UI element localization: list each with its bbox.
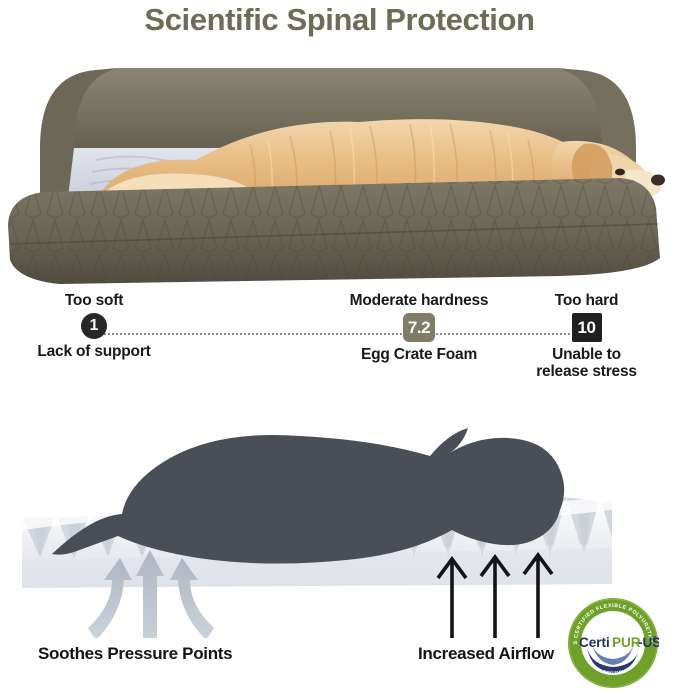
scale-stop-bottom-label: Lack of support — [10, 343, 178, 360]
scale-stop-bottom-label: Egg Crate Foam — [330, 346, 508, 363]
scale-badge-1: 1 — [81, 313, 107, 339]
product-hero-image — [0, 48, 679, 288]
scale-stop-top-label: Too soft — [10, 292, 178, 310]
scale-stop-too-soft: Too soft 1 Lack of support — [10, 292, 178, 360]
dog-bed-photo-illustration — [0, 48, 679, 288]
scale-stop-bottom-label: Unable to release stress — [504, 346, 669, 380]
badge-word-pur: PUR — [612, 635, 641, 650]
bed-front-quilting — [8, 178, 660, 284]
scale-stop-moderate: Moderate hardness 7.2 Egg Crate Foam — [330, 292, 508, 363]
hardness-scale: Too soft 1 Lack of support Moderate hard… — [0, 292, 679, 394]
page-title: Scientific Spinal Protection — [0, 2, 679, 38]
scale-bottom-label-line1: Unable to — [552, 346, 621, 363]
certipur-us-badge: CONTAINS CERTIFIED FLEXIBLE POLYURETHANE… — [567, 597, 659, 689]
scale-badge-7-2: 7.2 — [403, 313, 435, 342]
badge-wordmark: Certi PUR -US ® — [579, 635, 659, 650]
scale-stop-too-hard: Too hard 10 Unable to release stress — [504, 292, 669, 380]
scale-stop-top-label: Too hard — [504, 292, 669, 310]
badge-word-certi: Certi — [579, 635, 610, 650]
scale-stop-top-label: Moderate hardness — [330, 292, 508, 310]
caption-soothes-pressure-points: Soothes Pressure Points — [38, 644, 232, 664]
badge-registered-mark: ® — [653, 635, 657, 642]
scale-badge-10: 10 — [572, 313, 602, 342]
caption-increased-airflow: Increased Airflow — [418, 644, 554, 664]
scale-bottom-label-line2: release stress — [536, 363, 637, 380]
